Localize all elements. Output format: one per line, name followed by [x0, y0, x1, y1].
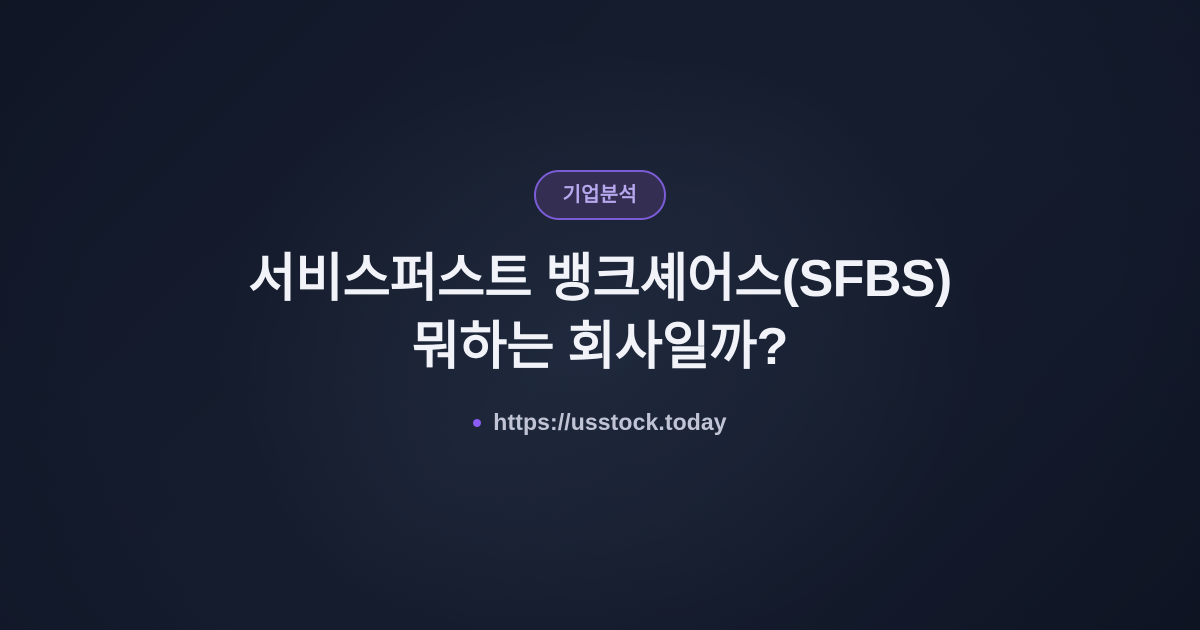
page-title-line-1: 서비스퍼스트 뱅크셰어스(SFBS) — [248, 246, 951, 314]
page-title-line-2: 뭐하는 회사일까? — [248, 314, 951, 382]
category-badge: 기업분석 — [534, 170, 666, 220]
site-url-text: https://usstock.today — [493, 411, 726, 434]
og-share-card: 기업분석 서비스퍼스트 뱅크셰어스(SFBS) 뭐하는 회사일까? https:… — [0, 0, 1200, 630]
card-content: 기업분석 서비스퍼스트 뱅크셰어스(SFBS) 뭐하는 회사일까? https:… — [0, 170, 1200, 460]
page-title: 서비스퍼스트 뱅크셰어스(SFBS) 뭐하는 회사일까? — [248, 246, 951, 381]
site-url: https://usstock.today — [473, 411, 726, 434]
dot-icon — [473, 419, 481, 427]
